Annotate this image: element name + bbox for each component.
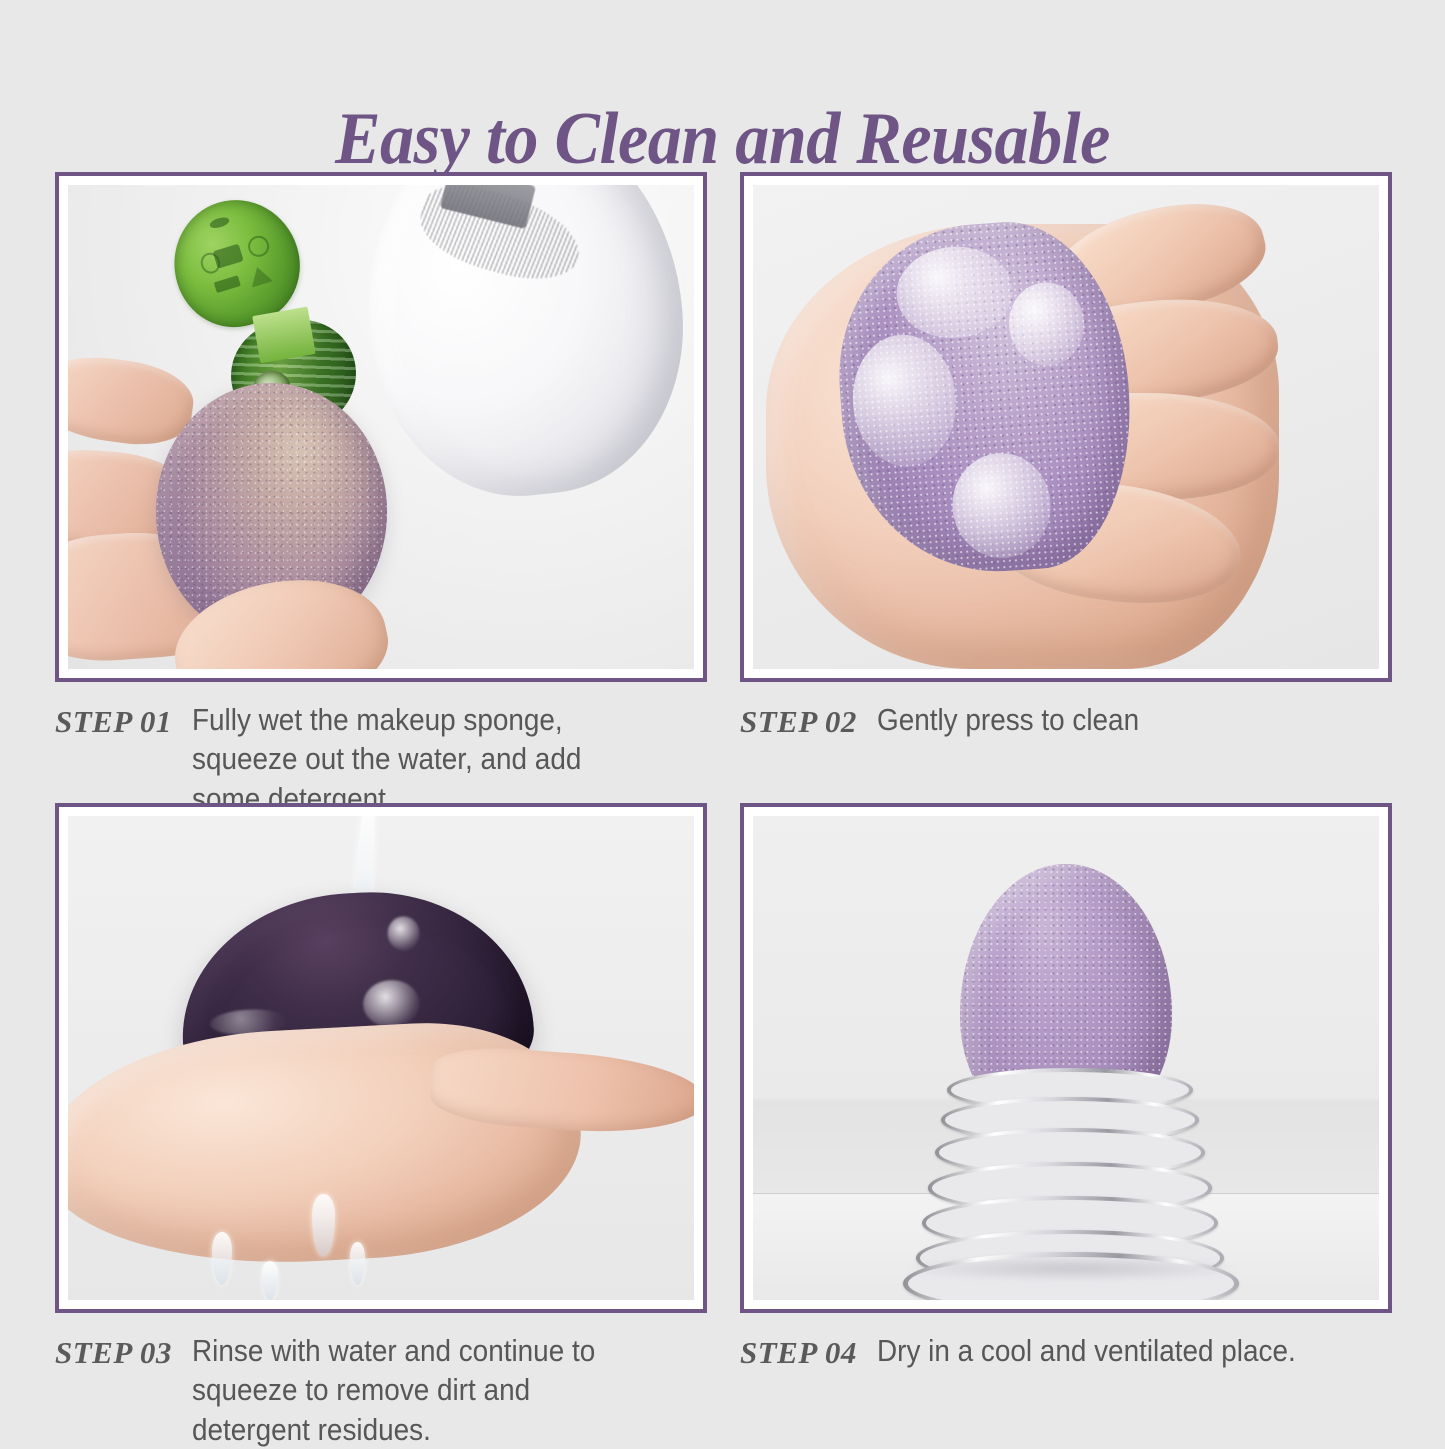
step-04-photo xyxy=(753,816,1379,1300)
step-02-label: STEP 02 xyxy=(740,700,857,741)
step-04-text: Dry in a cool and ventilated place. xyxy=(877,1331,1341,1370)
step-block-01: STEP 01 Fully wet the makeup sponge, squ… xyxy=(55,172,707,818)
step-01-text: Fully wet the makeup sponge, squeeze out… xyxy=(192,700,656,818)
step-04-label: STEP 04 xyxy=(740,1331,857,1372)
step-03-photo xyxy=(68,816,694,1300)
step-04-caption: STEP 04 Dry in a cool and ventilated pla… xyxy=(740,1331,1392,1372)
step-02-photo-frame xyxy=(740,172,1392,682)
makeup-sponge xyxy=(829,214,1141,582)
step-01-photo-frame xyxy=(55,172,707,682)
step-01-photo xyxy=(68,185,694,669)
lid-hinge xyxy=(252,306,316,363)
step-03-photo-frame xyxy=(55,803,707,1313)
step-block-03: STEP 03 Rinse with water and continue to… xyxy=(55,803,707,1449)
step-block-04: STEP 04 Dry in a cool and ventilated pla… xyxy=(740,803,1392,1372)
step-03-label: STEP 03 xyxy=(55,1331,172,1372)
lid-warning-triangle-icon xyxy=(247,263,273,287)
step-02-caption: STEP 02 Gently press to clean xyxy=(740,700,1392,741)
page-title: Easy to Clean and Reusable xyxy=(58,102,1387,176)
step-02-text: Gently press to clean xyxy=(877,700,1341,739)
water-highlight xyxy=(362,980,420,1030)
lid-emboss-mark xyxy=(214,275,241,292)
step-block-02: STEP 02 Gently press to clean xyxy=(740,172,1392,741)
lid-emboss-mark xyxy=(245,232,272,259)
lid-emboss-mark xyxy=(209,215,231,229)
step-04-photo-frame xyxy=(740,803,1392,1313)
stand-shadow xyxy=(903,1256,1241,1280)
step-01-caption: STEP 01 Fully wet the makeup sponge, squ… xyxy=(55,700,707,818)
water-highlight xyxy=(387,916,420,952)
step-03-text: Rinse with water and continue to squeeze… xyxy=(192,1331,656,1449)
steps-grid: STEP 01 Fully wet the makeup sponge, squ… xyxy=(55,172,1392,1417)
step-03-caption: STEP 03 Rinse with water and continue to… xyxy=(55,1331,707,1449)
step-02-photo xyxy=(753,185,1379,669)
step-01-label: STEP 01 xyxy=(55,700,172,741)
